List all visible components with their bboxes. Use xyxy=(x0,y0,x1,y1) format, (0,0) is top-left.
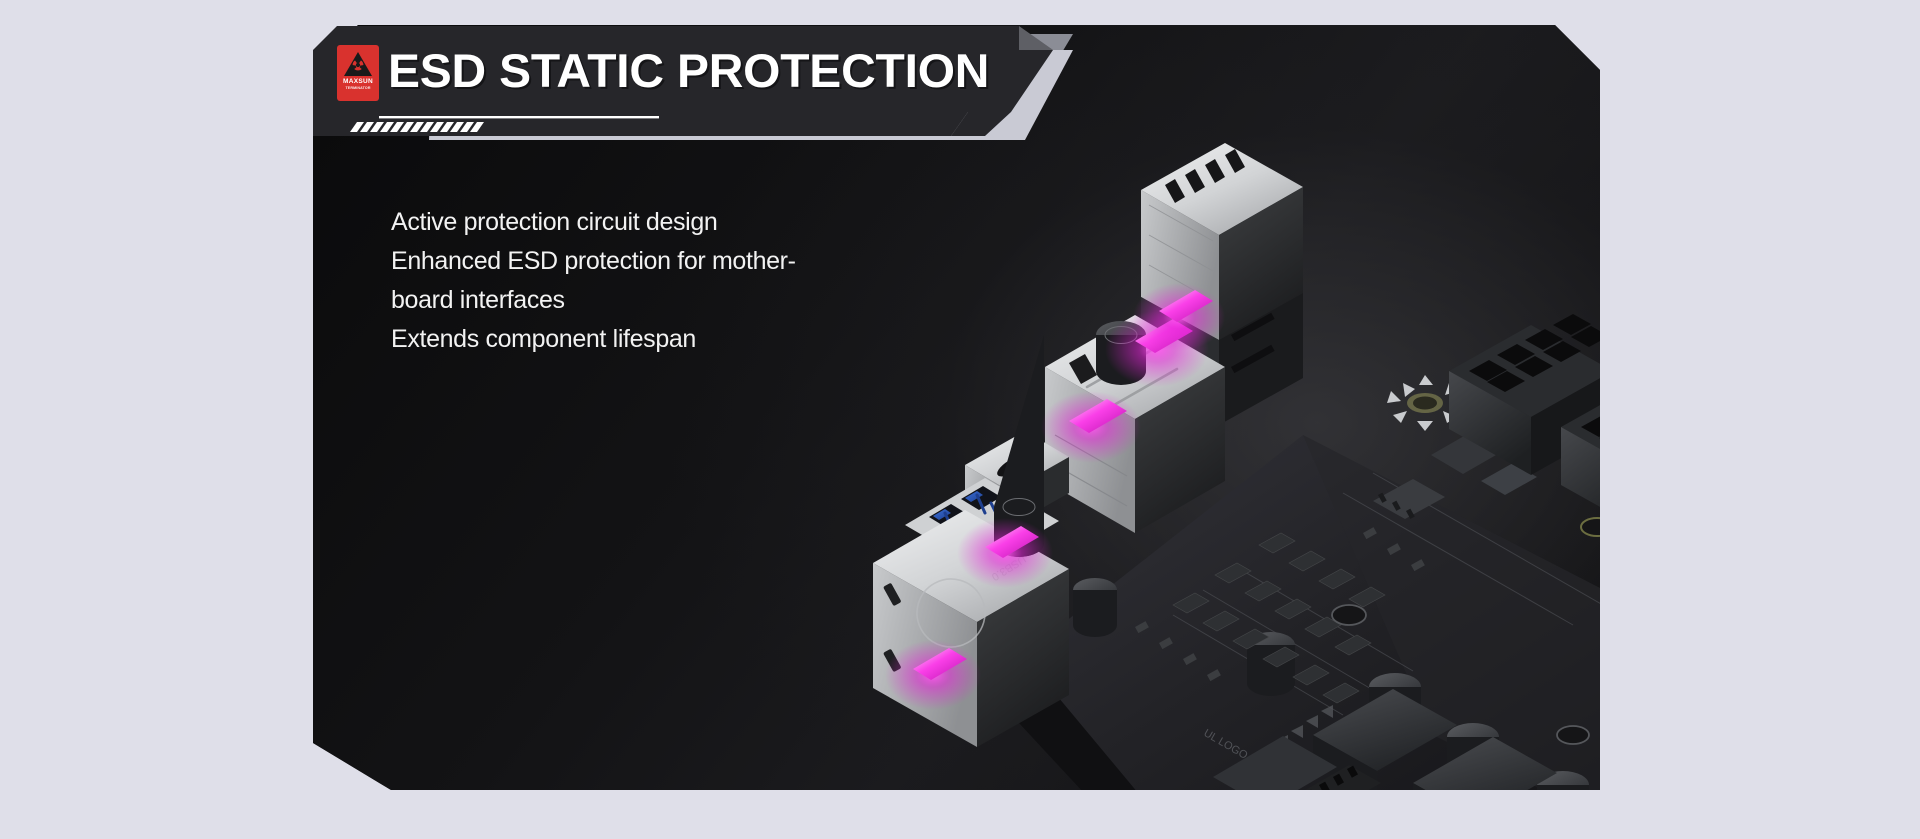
page-title: ESD STATIC PROTECTION xyxy=(388,43,989,98)
maxsun-logo-subtitle: TERMINATOR xyxy=(345,87,370,91)
triangle-hazard-icon xyxy=(343,51,373,77)
feature-line: board interfaces xyxy=(391,281,911,320)
page-root: UL LOGO xyxy=(0,0,1920,839)
maxsun-logo-badge: MAXSUN TERMINATOR xyxy=(337,45,379,101)
esd-led xyxy=(1133,283,1225,351)
esd-led xyxy=(957,518,1053,588)
feature-line: Extends component lifespan xyxy=(391,320,911,359)
maxsun-logo-name: MAXSUN xyxy=(343,79,373,86)
feature-list: Active protection circuit design Enhance… xyxy=(391,203,911,359)
esd-led xyxy=(1041,391,1141,463)
esd-led xyxy=(885,640,981,710)
feature-line: Enhanced ESD protection for mother- xyxy=(391,242,911,281)
motherboard-photo: UL LOGO xyxy=(873,135,1600,790)
banner-underline xyxy=(379,116,659,118)
feature-line: Active protection circuit design xyxy=(391,203,911,242)
